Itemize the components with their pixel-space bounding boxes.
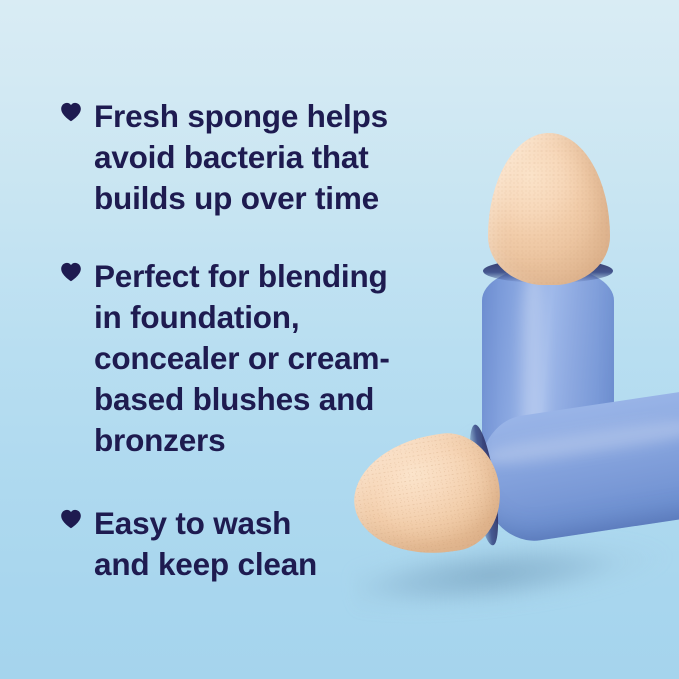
benefit-line: based blushes and	[94, 379, 390, 420]
upright-sponge-tip	[488, 133, 610, 285]
benefit-text: Fresh sponge helps avoid bacteria that b…	[94, 96, 388, 219]
lying-sponge-seam	[464, 423, 504, 547]
lying-sponge-handle	[472, 389, 679, 548]
upright-sponge-shadow	[455, 420, 635, 476]
benefit-line: Perfect for blending	[94, 256, 390, 297]
sponge-texture	[488, 133, 610, 285]
heart-icon	[60, 262, 82, 292]
benefit-line: avoid bacteria that	[94, 137, 388, 178]
upright-sponge	[463, 133, 633, 473]
upright-sponge-handle	[482, 267, 614, 477]
benefit-item: Easy to wash and keep clean	[60, 503, 317, 585]
upright-sponge-seam	[483, 259, 613, 283]
heart-icon	[60, 509, 82, 539]
benefit-line: in foundation,	[94, 297, 390, 338]
benefit-line: Fresh sponge helps	[94, 96, 388, 137]
benefits-list: Fresh sponge helps avoid bacteria that b…	[0, 0, 470, 679]
benefit-item: Fresh sponge helps avoid bacteria that b…	[60, 96, 388, 219]
benefit-text: Easy to wash and keep clean	[94, 503, 317, 585]
benefit-line: Easy to wash	[94, 503, 317, 544]
benefit-text: Perfect for blending in foundation, conc…	[94, 256, 390, 461]
benefit-line: bronzers	[94, 420, 390, 461]
benefit-line: builds up over time	[94, 178, 388, 219]
benefit-item: Perfect for blending in foundation, conc…	[60, 256, 390, 461]
benefit-line: and keep clean	[94, 544, 317, 585]
benefit-line: concealer or cream-	[94, 338, 390, 379]
heart-icon	[60, 102, 82, 132]
promo-graphic: Fresh sponge helps avoid bacteria that b…	[0, 0, 679, 679]
